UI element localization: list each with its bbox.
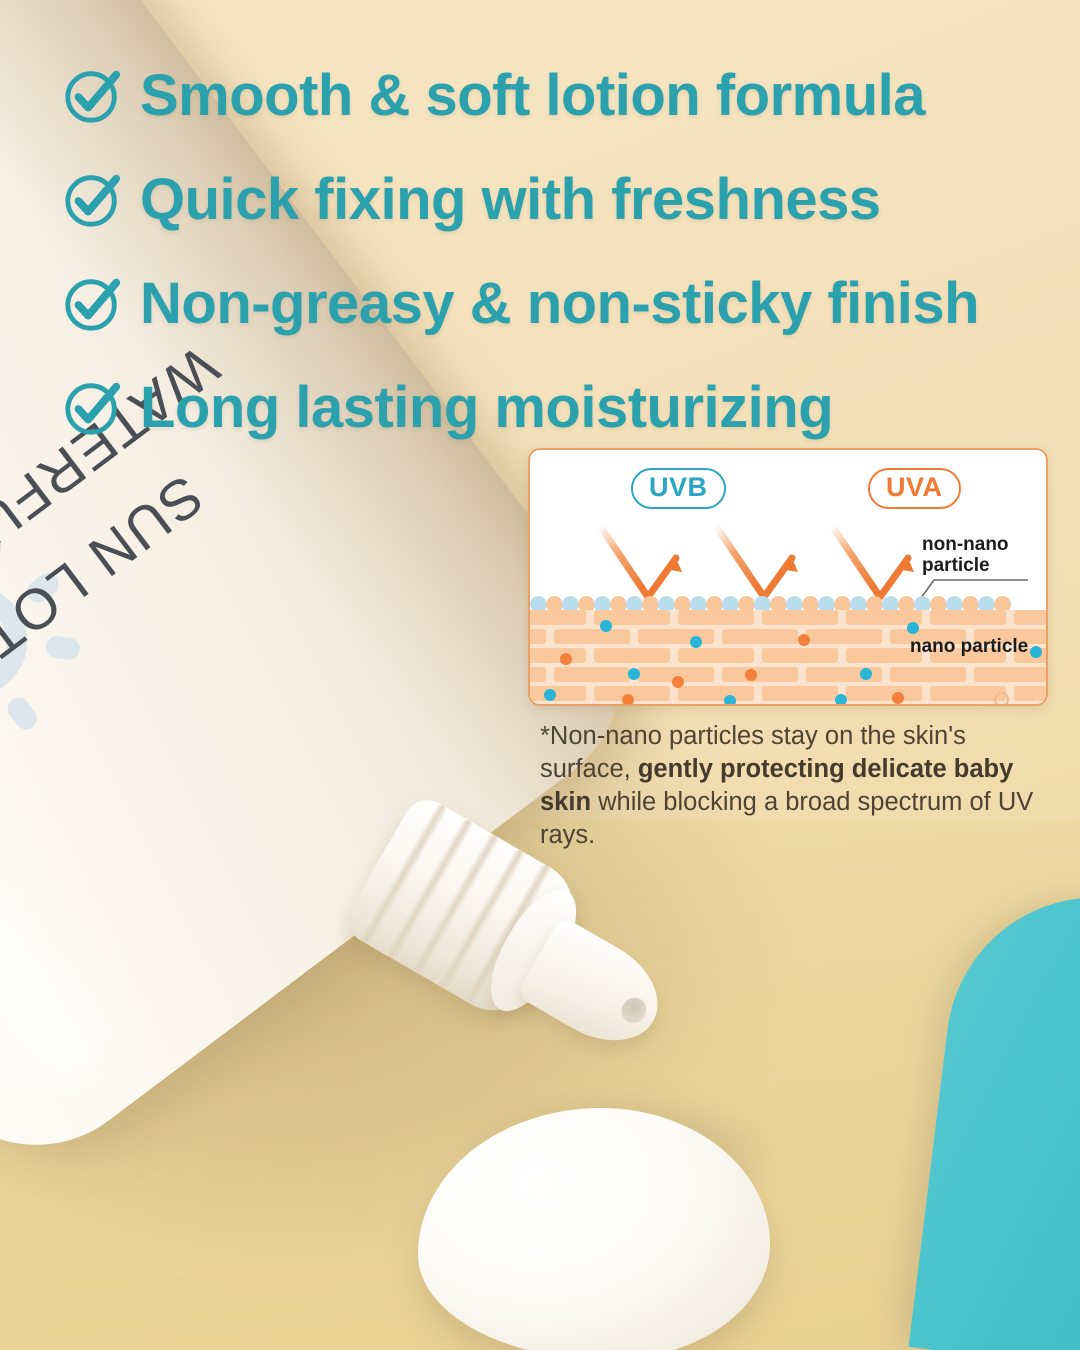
- nano-particle: [690, 636, 702, 648]
- caption-part-2: while blocking a broad spectrum of UV ra…: [540, 788, 1033, 849]
- feature-list: Smooth & soft lotion formula Quick fixin…: [62, 48, 1052, 464]
- skin-layer: [530, 610, 1048, 706]
- nano-particle-outline: [994, 692, 1009, 706]
- non-nano-callout: non-nano particle: [922, 534, 1009, 577]
- nano-particle: [907, 622, 919, 634]
- nano-callout: nano particle: [910, 636, 1028, 657]
- nano-particle: [560, 653, 572, 665]
- nano-particle: [672, 676, 684, 688]
- nano-particle: [798, 634, 810, 646]
- nano-particle: [892, 692, 904, 704]
- feature-label: Quick fixing with freshness: [140, 171, 881, 229]
- nano-particle: [745, 669, 757, 681]
- nano-particle: [860, 668, 872, 680]
- nano-particle: [544, 689, 556, 701]
- feature-item: Non-greasy & non-sticky finish: [62, 256, 1052, 352]
- nano-particle: [724, 695, 736, 706]
- sun-ray: [3, 693, 41, 733]
- feature-item: Quick fixing with freshness: [62, 152, 1052, 248]
- brick-row: [530, 667, 1048, 686]
- feature-item: Smooth & soft lotion formula: [62, 48, 1052, 144]
- brick-row: [530, 686, 1048, 705]
- feature-item: Long lasting moisturizing: [62, 360, 1052, 456]
- feature-label: Non-greasy & non-sticky finish: [140, 275, 979, 333]
- check-circle-icon: [62, 169, 124, 231]
- uv-protection-diagram: UVB UVA: [528, 448, 1048, 706]
- feature-label: Smooth & soft lotion formula: [140, 67, 925, 125]
- nozzle-opening: [617, 993, 651, 1028]
- non-nano-callout-line-2: particle: [922, 555, 1009, 576]
- product-feature-graphic: SUN LOTION WATERFUL Smooth & soft lotion…: [0, 0, 1080, 1350]
- uv-ray-2: [716, 526, 798, 597]
- uv-ray-3: [832, 526, 914, 597]
- nano-particle: [835, 694, 847, 706]
- nano-particle: [1030, 646, 1042, 658]
- non-nano-callout-line-1: non-nano: [922, 534, 1009, 555]
- check-circle-icon: [62, 377, 124, 439]
- nano-particle: [628, 668, 640, 680]
- check-circle-icon: [62, 273, 124, 335]
- feature-label: Long lasting moisturizing: [140, 379, 833, 437]
- diagram-caption: *Non-nano particles stay on the skin's s…: [540, 720, 1040, 853]
- uv-ray-1: [600, 526, 682, 597]
- nano-particle: [622, 694, 634, 706]
- nano-particle: [600, 620, 612, 632]
- check-circle-icon: [62, 65, 124, 127]
